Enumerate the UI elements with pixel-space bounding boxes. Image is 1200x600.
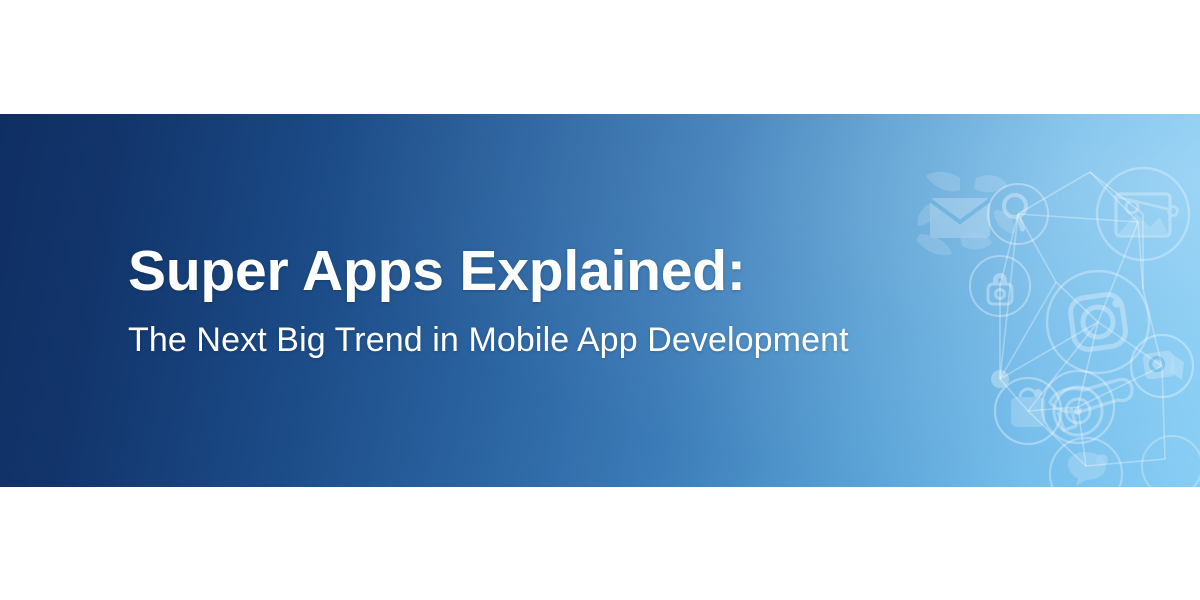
instagram-camera-icon <box>1047 271 1149 373</box>
photo-icon <box>1097 168 1189 260</box>
page-title: Super Apps Explained: <box>128 241 1008 301</box>
bottom-whitespace <box>0 487 1200 600</box>
partial-node-icon <box>1142 436 1200 487</box>
page-root: Super Apps Explained: The Next Big Trend… <box>0 0 1200 600</box>
record-icon <box>1042 371 1114 443</box>
page-subtitle: The Next Big Trend in Mobile App Develop… <box>128 320 1008 360</box>
megaphone-icon <box>1050 379 1132 430</box>
hero-banner: Super Apps Explained: The Next Big Trend… <box>0 114 1200 487</box>
chat-icon <box>1050 438 1122 487</box>
network-connector-lines <box>1000 172 1165 466</box>
top-whitespace <box>0 0 1200 114</box>
play-video-icon <box>1131 335 1193 397</box>
banner-text-block: Super Apps Explained: The Next Big Trend… <box>128 114 1008 487</box>
